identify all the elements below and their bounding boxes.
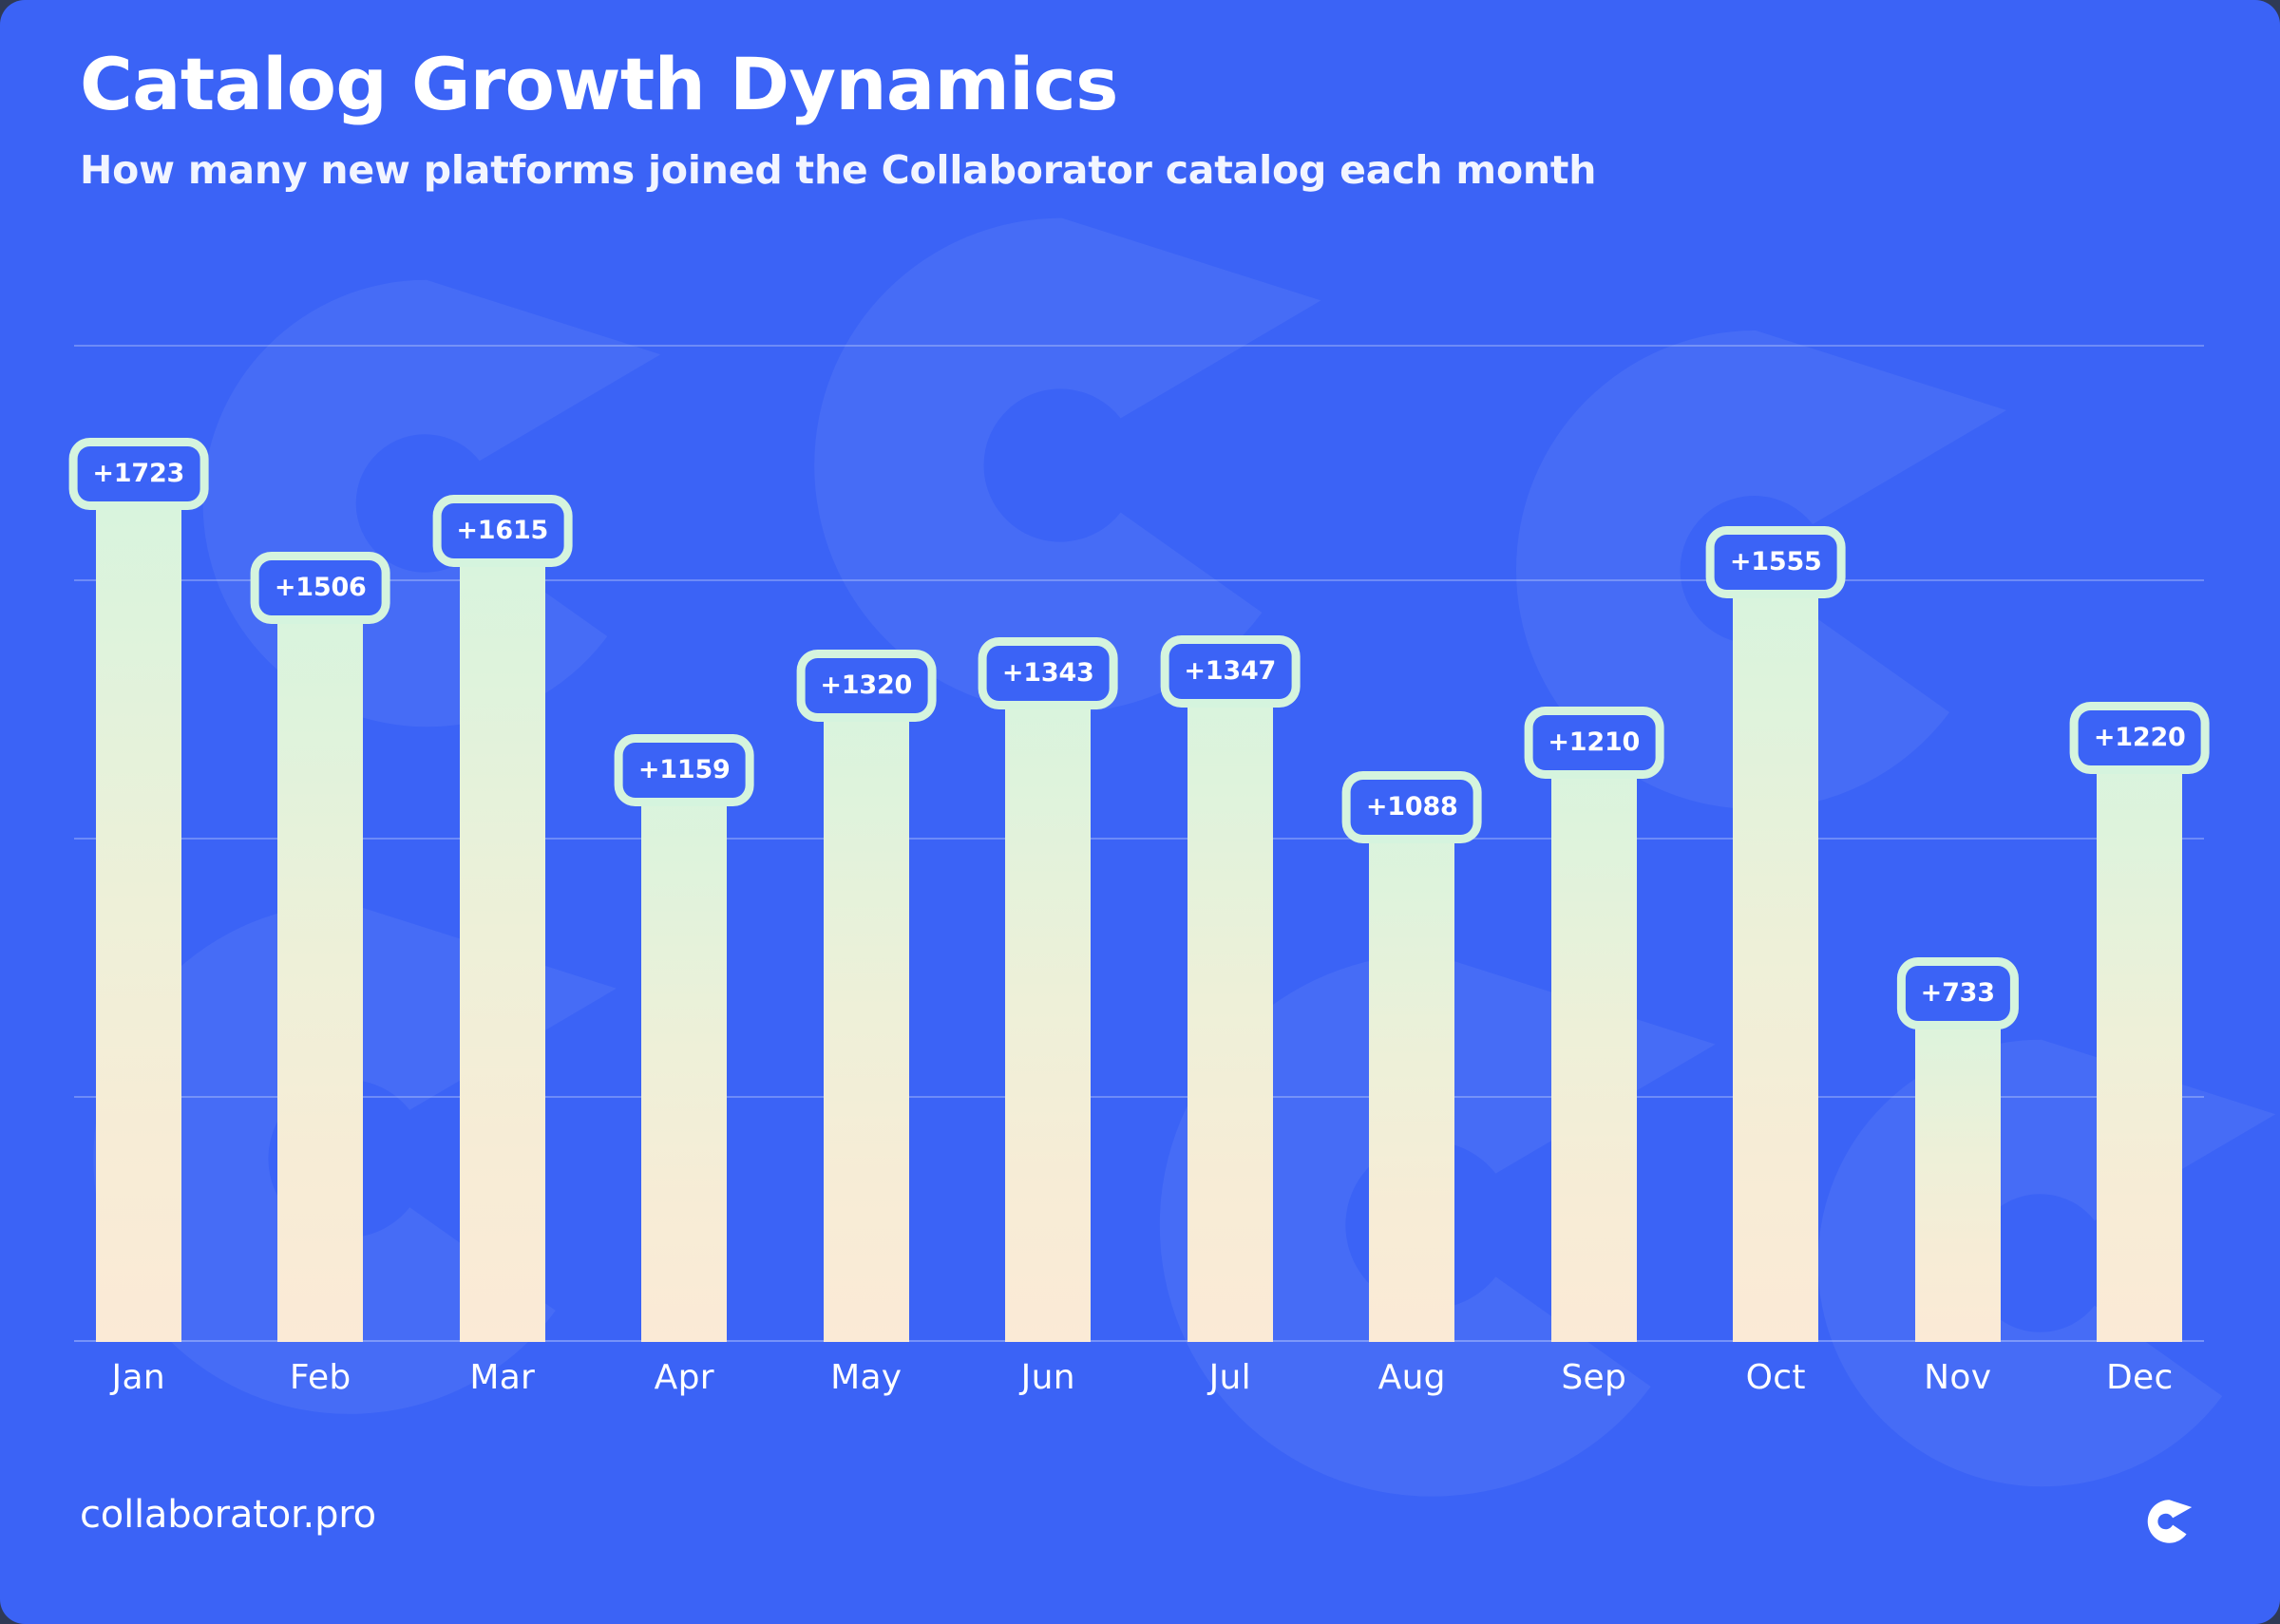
bar[interactable]: +1159 <box>641 734 727 1343</box>
bar-slot: +1088 <box>1321 345 1504 1342</box>
bar-slot: +1210 <box>1503 345 1685 1342</box>
x-tick-label: Dec <box>2049 1358 2232 1397</box>
bar[interactable]: +1723 <box>96 438 181 1342</box>
x-tick-label: Mar <box>411 1358 594 1397</box>
bar-value-label: +733 <box>1906 966 2010 1021</box>
bar-series: +1723 +1506 +1615 +1159 +1320 +1343 +134… <box>47 345 2231 1342</box>
bar-value-label: +1347 <box>1168 644 1291 699</box>
bar-slot: +1320 <box>775 345 958 1342</box>
x-tick-label: Jul <box>1139 1358 1321 1397</box>
site-url[interactable]: collaborator.pro <box>80 1493 376 1537</box>
bar-slot: +1615 <box>411 345 594 1342</box>
chart-header: Catalog Growth Dynamics How many new pla… <box>80 46 2198 193</box>
x-tick-label: May <box>775 1358 958 1397</box>
bar-slot: +1220 <box>2049 345 2232 1342</box>
bar[interactable]: +1088 <box>1369 771 1454 1342</box>
bar-value-label: +1320 <box>805 658 927 713</box>
x-tick-label: Jun <box>958 1358 1140 1397</box>
infographic-canvas: Catalog Growth Dynamics How many new pla… <box>0 0 2280 1624</box>
x-tick-label: Feb <box>230 1358 412 1397</box>
bar[interactable]: +1343 <box>1005 637 1091 1342</box>
x-tick-label: Apr <box>594 1358 776 1397</box>
x-tick-label: Jan <box>47 1358 230 1397</box>
bar[interactable]: +1347 <box>1187 635 1273 1342</box>
bar-value-label: +1210 <box>1532 715 1655 770</box>
x-tick-label: Sep <box>1503 1358 1685 1397</box>
bar-value-label: +1615 <box>441 503 563 558</box>
bar-value-label: +1506 <box>259 560 382 615</box>
x-tick-label: Aug <box>1321 1358 1504 1397</box>
bar-value-label: +1723 <box>77 446 199 501</box>
page-title: Catalog Growth Dynamics <box>80 46 2198 123</box>
x-axis-labels: Jan Feb Mar Apr May Jun Jul Aug Sep Oct … <box>47 1358 2231 1397</box>
bar-slot: +1555 <box>1685 345 1868 1342</box>
bar[interactable]: +1555 <box>1733 526 1818 1342</box>
bar-slot: +1723 <box>47 345 230 1342</box>
x-tick-label: Nov <box>1867 1358 2049 1397</box>
bar-value-label: +1220 <box>2079 710 2201 765</box>
bar[interactable]: +1320 <box>824 650 909 1342</box>
bar-slot: +733 <box>1867 345 2049 1342</box>
plot-area: +1723 +1506 +1615 +1159 +1320 +1343 +134… <box>74 345 2204 1342</box>
bar-slot: +1343 <box>958 345 1140 1342</box>
bar-value-label: +1088 <box>1351 780 1473 835</box>
bar-value-label: +1555 <box>1715 535 1837 590</box>
x-tick-label: Oct <box>1685 1358 1868 1397</box>
bar[interactable]: +1615 <box>460 495 545 1343</box>
bar-slot: +1159 <box>594 345 776 1342</box>
collaborator-logo-icon <box>2141 1497 2200 1546</box>
bar[interactable]: +1506 <box>277 552 363 1342</box>
bar-value-label: +1159 <box>623 743 746 798</box>
bar[interactable]: +733 <box>1915 957 2001 1342</box>
chart-subtitle: How many new platforms joined the Collab… <box>80 148 2198 193</box>
bar[interactable]: +1220 <box>2097 702 2182 1342</box>
bar-value-label: +1343 <box>987 646 1110 701</box>
bar-slot: +1506 <box>230 345 412 1342</box>
bar[interactable]: +1210 <box>1551 707 1637 1342</box>
bar-slot: +1347 <box>1139 345 1321 1342</box>
